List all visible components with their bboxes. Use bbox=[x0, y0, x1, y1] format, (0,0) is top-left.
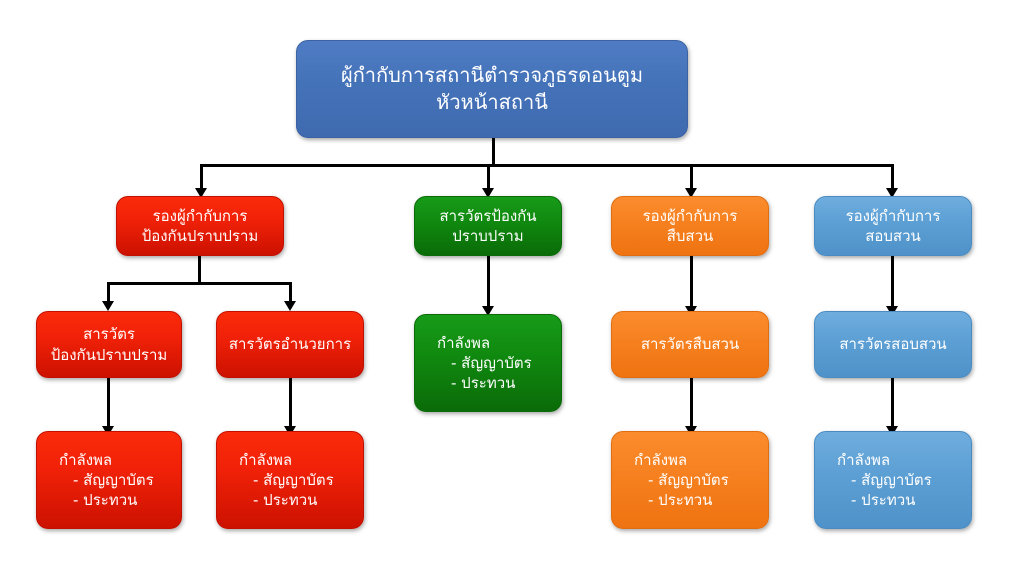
node-line: สารวัตรสอบสวน bbox=[839, 334, 946, 354]
staff-item: - ประทวน bbox=[239, 490, 317, 510]
connector-level1-bus bbox=[200, 164, 894, 167]
node-deputy-prevention[interactable]: รองผู้กำกับการ ป้องกันปราบปราม bbox=[116, 196, 284, 256]
connector-red2-staff-drop bbox=[289, 378, 292, 428]
staff-heading: กำลังพล bbox=[59, 450, 112, 470]
staff-heading: กำลังพล bbox=[837, 450, 890, 470]
connector-drop-green bbox=[487, 164, 490, 190]
node-staff-red-1[interactable]: กำลังพล - สัญญาบัตร - ประทวน bbox=[36, 431, 182, 529]
arrow-red-child-1 bbox=[102, 301, 114, 311]
node-station-superintendent[interactable]: ผู้กำกับการสถานีตำรวจภูธรดอนตูม หัวหน้าส… bbox=[296, 40, 688, 138]
node-line: หัวหน้าสถานี bbox=[436, 89, 548, 116]
staff-item: - ประทวน bbox=[634, 490, 712, 510]
staff-item: - ประทวน bbox=[837, 490, 915, 510]
node-line: สารวัตรสืบสวน bbox=[641, 334, 739, 354]
node-line: รองผู้กำกับการ bbox=[643, 206, 738, 226]
node-inspector-prevention-red[interactable]: สารวัตร ป้องกันปราบปราม bbox=[36, 311, 182, 378]
node-inspector-prevention[interactable]: สารวัตรป้องกัน ปราบปราม bbox=[414, 196, 562, 256]
node-inspector-administration[interactable]: สารวัตรอำนวยการ bbox=[216, 311, 364, 378]
node-line: ปราบปราม bbox=[452, 226, 523, 246]
staff-item: - สัญญาบัตร bbox=[837, 470, 932, 490]
node-line: สารวัตรป้องกัน bbox=[439, 206, 536, 226]
connector-drop-blue bbox=[891, 164, 894, 190]
node-staff-green[interactable]: กำลังพล - สัญญาบัตร - ประทวน bbox=[414, 314, 562, 412]
connector-green-drop bbox=[487, 256, 490, 308]
staff-heading: กำลังพล bbox=[437, 333, 490, 353]
connector-blue-drop bbox=[891, 256, 894, 308]
node-line: ป้องกันปราบปราม bbox=[51, 345, 168, 365]
staff-heading: กำลังพล bbox=[634, 450, 687, 470]
connector-root-stem bbox=[492, 137, 495, 167]
staff-item: - สัญญาบัตร bbox=[239, 470, 334, 490]
staff-item: - ประทวน bbox=[437, 373, 515, 393]
node-staff-blue[interactable]: กำลังพล - สัญญาบัตร - ประทวน bbox=[814, 431, 972, 529]
node-line: สารวัตร bbox=[83, 324, 135, 344]
node-inspector-investigation[interactable]: สารวัตรสืบสวน bbox=[611, 311, 769, 378]
staff-item: - ประทวน bbox=[59, 490, 137, 510]
connector-red-bus bbox=[107, 282, 292, 285]
arrow-red-child-2 bbox=[284, 301, 296, 311]
connector-orange-staff-drop bbox=[690, 378, 693, 428]
connector-red-drop-2 bbox=[289, 282, 292, 303]
connector-drop-red bbox=[200, 164, 203, 190]
org-chart-canvas: ผู้กำกับการสถานีตำรวจภูธรดอนตูม หัวหน้าส… bbox=[0, 0, 1024, 576]
node-line: ป้องกันปราบปราม bbox=[142, 226, 259, 246]
node-deputy-investigation[interactable]: รองผู้กำกับการ สืบสวน bbox=[611, 196, 769, 256]
connector-orange-drop bbox=[690, 256, 693, 308]
node-line: รองผู้กำกับการ bbox=[153, 206, 248, 226]
connector-blue-staff-drop bbox=[891, 378, 894, 428]
node-line: สอบสวน bbox=[865, 226, 921, 246]
node-staff-orange[interactable]: กำลังพล - สัญญาบัตร - ประทวน bbox=[611, 431, 769, 529]
node-line: สืบสวน bbox=[667, 226, 714, 246]
connector-drop-orange bbox=[690, 164, 693, 190]
node-line: รองผู้กำกับการ bbox=[846, 206, 941, 226]
node-line: ผู้กำกับการสถานีตำรวจภูธรดอนตูม bbox=[341, 62, 643, 89]
connector-red1-staff-drop bbox=[107, 378, 110, 428]
node-staff-red-2[interactable]: กำลังพล - สัญญาบัตร - ประทวน bbox=[216, 431, 364, 529]
connector-red-stem bbox=[198, 256, 201, 284]
connector-red-drop-1 bbox=[107, 282, 110, 303]
node-inspector-interrogation[interactable]: สารวัตรสอบสวน bbox=[814, 311, 972, 378]
staff-item: - สัญญาบัตร bbox=[59, 470, 154, 490]
node-deputy-interrogation[interactable]: รองผู้กำกับการ สอบสวน bbox=[814, 196, 972, 256]
node-line: สารวัตรอำนวยการ bbox=[229, 334, 351, 354]
staff-item: - สัญญาบัตร bbox=[437, 353, 532, 373]
staff-item: - สัญญาบัตร bbox=[634, 470, 729, 490]
staff-heading: กำลังพล bbox=[239, 450, 292, 470]
